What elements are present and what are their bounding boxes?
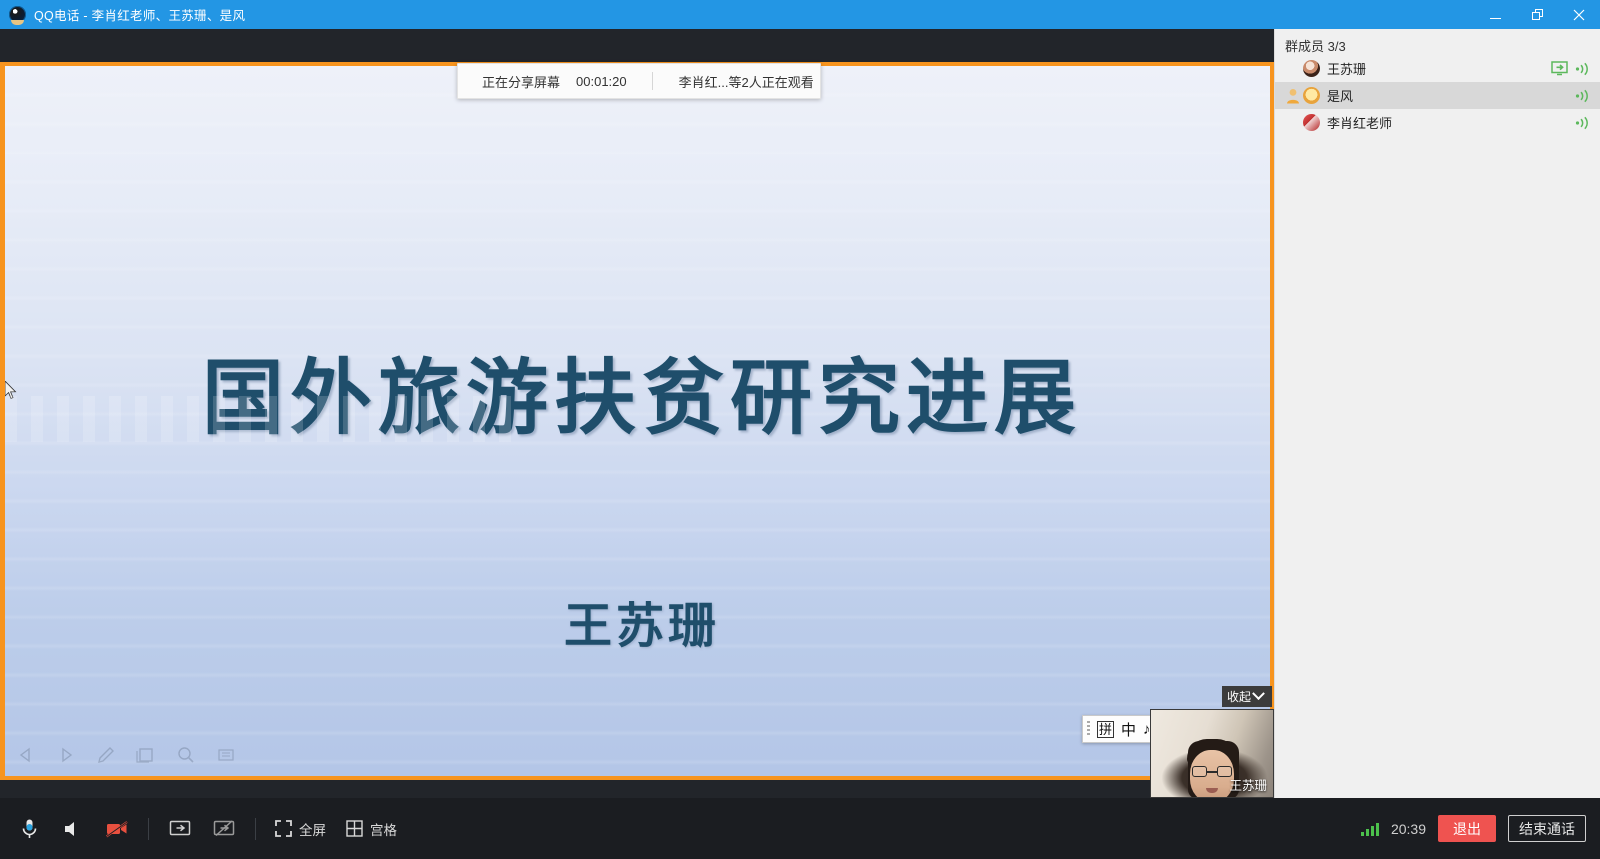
zoom-in-icon[interactable] [173,742,199,768]
share-watchers-label: 李肖红...等2人正在观看 [679,72,814,91]
avatar-glasses [1192,766,1232,777]
share-screen-icon [169,819,191,839]
avatar [1303,114,1320,131]
all-slides-icon[interactable] [133,742,159,768]
audio-wave-icon [1575,116,1590,130]
member-name: 李肖红老师 [1327,113,1392,132]
next-slide-icon[interactable] [53,742,79,768]
restore-icon[interactable] [1516,0,1558,29]
members-panel: 群成员 3/3 王苏珊 [1274,29,1600,859]
ime-language-label[interactable]: 中 [1121,719,1136,740]
signal-strength-icon [1361,822,1379,836]
ime-mode-label[interactable]: 拼 [1097,721,1114,738]
camera-button[interactable] [96,808,138,850]
audio-wave-icon [1575,62,1590,76]
pause-share-button[interactable] [203,808,245,850]
close-icon[interactable] [1558,0,1600,29]
pen-tool-icon[interactable] [93,742,119,768]
member-row[interactable]: 是风 [1275,82,1600,109]
avatar [1303,60,1320,77]
member-status-icons [1551,61,1590,76]
fullscreen-button[interactable]: 全屏 [266,808,335,850]
share-status-bar: 正在分享屏幕 00:01:20 李肖红...等2人正在观看 [457,63,821,99]
member-status-icons [1575,116,1590,130]
ime-toolbar[interactable]: 拼 中 ♪ [1082,715,1158,743]
microphone-button[interactable] [8,808,50,850]
call-control-bar: 全屏 宫格 20:39 退出 结束通话 [0,798,1600,859]
collapse-button[interactable]: 收起 [1222,686,1272,707]
share-status-label: 正在分享屏幕 [482,72,560,91]
screen-share-icon [1551,61,1568,76]
member-row[interactable]: 王苏珊 [1275,55,1600,82]
ime-drag-handle[interactable] [1087,721,1090,737]
fullscreen-icon [275,820,292,837]
slide-subtitle: 王苏珊 [5,586,1270,656]
members-panel-header: 群成员 3/3 [1275,29,1600,55]
speaker-icon [63,819,83,839]
pause-share-icon [213,819,235,839]
ppt-presentation-controls [13,742,239,768]
self-video-thumbnail[interactable]: 王苏珊 [1150,709,1274,798]
qq-call-logo-icon [9,6,26,23]
member-row[interactable]: 李肖红老师 [1275,109,1600,136]
prev-slide-icon[interactable] [13,742,39,768]
call-controls-left: 全屏 宫格 [0,798,406,859]
member-name: 是风 [1327,86,1353,105]
member-name: 王苏珊 [1327,59,1366,78]
member-badge-slot [1283,59,1303,79]
avatar [1303,87,1320,104]
collapse-button-label: 收起 [1227,688,1251,705]
slide-title: 国外旅游扶贫研究进展 [5,331,1270,450]
share-screen-button[interactable] [159,808,201,850]
member-badge-slot [1283,86,1303,106]
self-video-name: 王苏珊 [1229,775,1267,794]
shared-screen-frame: 国外旅游扶贫研究进展 王苏珊 [0,62,1274,780]
share-bar-divider [652,72,653,90]
chevron-down-icon [1252,687,1265,700]
person-icon [1286,88,1300,104]
toolbar-divider [148,818,149,840]
microphone-icon [20,818,39,840]
member-status-icons [1575,89,1590,103]
speaker-button[interactable] [52,808,94,850]
more-options-icon[interactable] [213,742,239,768]
fullscreen-label: 全屏 [299,819,326,839]
qq-call-window: QQ电话 - 李肖红老师、王苏珊、是风 国外旅游扶贫研究进展 王苏珊 [0,0,1600,859]
share-timer: 00:01:20 [576,74,627,89]
call-clock: 20:39 [1391,821,1426,837]
member-badge-slot [1283,113,1303,133]
call-controls-right: 20:39 退出 结束通话 [1361,815,1600,842]
minimize-icon[interactable] [1474,0,1516,29]
window-controls [1474,0,1600,29]
grid-icon [346,820,363,837]
grid-view-button[interactable]: 宫格 [337,808,406,850]
title-bar: QQ电话 - 李肖红老师、王苏珊、是风 [0,0,1600,29]
toolbar-divider [255,818,256,840]
hangup-button[interactable]: 结束通话 [1508,815,1586,842]
window-title: QQ电话 - 李肖红老师、王苏珊、是风 [34,5,245,24]
audio-wave-icon [1575,89,1590,103]
camera-off-icon [105,819,129,839]
exit-button[interactable]: 退出 [1438,815,1496,842]
grid-label: 宫格 [370,819,397,839]
powerpoint-slide: 国外旅游扶贫研究进展 王苏珊 [5,66,1270,776]
